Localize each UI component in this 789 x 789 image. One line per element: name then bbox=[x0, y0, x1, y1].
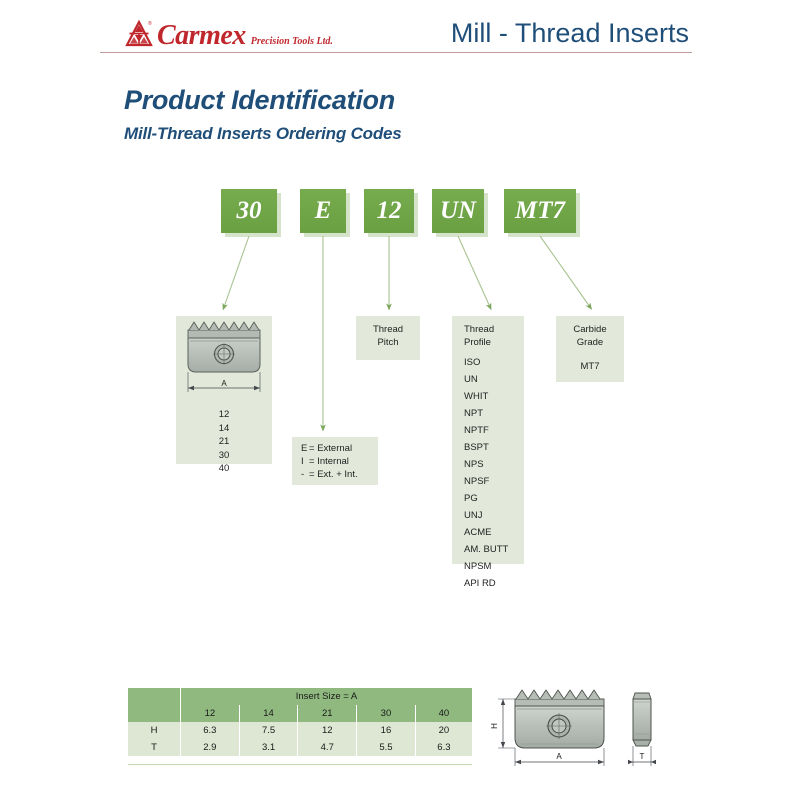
header-title: Mill - Thread Inserts bbox=[451, 18, 689, 49]
code-box-carbide-grade-label: MT7 bbox=[515, 197, 565, 225]
spec-table-header-row: 12 14 21 30 40 bbox=[128, 705, 472, 722]
thread-profile-value: UN bbox=[464, 371, 508, 388]
insert-size-values: 12 14 21 30 40 bbox=[176, 408, 272, 476]
spec-table-cell: 20 bbox=[415, 722, 472, 739]
spec-table-col-header: 12 bbox=[181, 705, 240, 722]
spec-table-title: Insert Size = A bbox=[181, 688, 473, 705]
application-eq: = bbox=[309, 456, 315, 467]
thread-profile-value: ISO bbox=[464, 354, 508, 371]
code-box-thread-pitch-label: 12 bbox=[377, 197, 402, 225]
table-row: H 6.3 7.5 12 16 20 bbox=[128, 722, 472, 739]
thread-profile-value: NPSF bbox=[464, 473, 508, 490]
footer-divider bbox=[128, 764, 472, 765]
spec-table-col-header: 14 bbox=[239, 705, 298, 722]
dimension-label-a-bottom: A bbox=[556, 752, 562, 761]
code-box-application[interactable]: E bbox=[300, 189, 346, 233]
insert-size-value: 12 bbox=[176, 408, 272, 422]
code-box-thread-profile[interactable]: UN bbox=[432, 189, 484, 233]
carmex-triangle-icon: ® bbox=[124, 20, 154, 50]
spec-table-title-row: Insert Size = A bbox=[128, 688, 472, 705]
code-box-carbide-grade[interactable]: MT7 bbox=[504, 189, 576, 233]
panel-carbide-grade: Carbide Grade MT7 bbox=[556, 316, 624, 382]
code-box-thread-profile-label: UN bbox=[440, 197, 476, 225]
carbide-grade-heading-line2: Grade bbox=[556, 337, 624, 350]
thread-profile-value: UNJ bbox=[464, 507, 508, 524]
insert-front-view-drawing: A bbox=[176, 316, 272, 408]
insert-size-value: 21 bbox=[176, 435, 272, 449]
thread-pitch-heading-line1: Thread bbox=[356, 324, 420, 337]
spec-table-col-header: 40 bbox=[415, 705, 472, 722]
application-value: Ext. + Int. bbox=[317, 469, 357, 480]
spec-table-body: H 6.3 7.5 12 16 20 T 2.9 3.1 4.7 5.5 6.3 bbox=[128, 722, 472, 756]
application-key: - bbox=[301, 468, 309, 481]
panel-application: E= External I= Internal -= Ext. + Int. bbox=[292, 437, 378, 485]
application-eq: = bbox=[309, 443, 315, 454]
dimension-label-t: T bbox=[640, 752, 645, 761]
thread-profile-values: ISO UN WHIT NPT NPTF BSPT NPS NPSF PG UN… bbox=[464, 354, 508, 592]
code-box-insert-size[interactable]: 30 bbox=[221, 189, 277, 233]
spec-table-cell: 4.7 bbox=[298, 739, 357, 756]
spec-table-cell: 2.9 bbox=[181, 739, 240, 756]
thread-pitch-heading: Thread Pitch bbox=[356, 324, 420, 349]
thread-profile-value: WHIT bbox=[464, 388, 508, 405]
spec-table-row-label: T bbox=[128, 739, 181, 756]
thread-profile-value: NPSM bbox=[464, 558, 508, 575]
application-value: External bbox=[317, 443, 352, 454]
panel-thread-pitch: Thread Pitch bbox=[356, 316, 420, 360]
spec-table-corner-cell bbox=[128, 688, 181, 705]
application-value: Internal bbox=[317, 456, 349, 467]
spec-table-cell: 6.3 bbox=[181, 722, 240, 739]
insert-size-value: 14 bbox=[176, 422, 272, 436]
spec-table-cell: 7.5 bbox=[239, 722, 298, 739]
page-subtitle: Mill-Thread Inserts Ordering Codes bbox=[124, 124, 402, 144]
insert-size-value: 40 bbox=[176, 462, 272, 476]
panel-insert-size: A 12 14 21 30 40 bbox=[176, 316, 272, 464]
spec-table-row-label: H bbox=[128, 722, 181, 739]
thread-profile-value: NPTF bbox=[464, 422, 508, 439]
insert-dimension-drawing: H A T bbox=[488, 688, 670, 770]
carbide-grade-heading: Carbide Grade bbox=[556, 324, 624, 349]
thread-profile-value: API RD bbox=[464, 575, 508, 592]
header-divider bbox=[100, 52, 692, 53]
thread-profile-value: PG bbox=[464, 490, 508, 507]
thread-profile-heading: Thread Profile bbox=[464, 324, 494, 349]
application-key: I bbox=[301, 455, 309, 468]
company-logo: ® Carmex Precision Tools Ltd. bbox=[124, 18, 333, 50]
code-box-insert-size-label: 30 bbox=[237, 197, 262, 225]
spec-table: Insert Size = A 12 14 21 30 40 H 6.3 7.5… bbox=[128, 688, 472, 756]
spec-table-cell: 5.5 bbox=[357, 739, 416, 756]
thread-profile-value: NPT bbox=[464, 405, 508, 422]
thread-profile-value: AM. BUTT bbox=[464, 541, 508, 558]
carbide-grade-heading-line1: Carbide bbox=[556, 324, 624, 337]
thread-pitch-heading-line2: Pitch bbox=[356, 337, 420, 350]
application-row: I= Internal bbox=[301, 455, 378, 468]
spec-table-cell: 16 bbox=[357, 722, 416, 739]
thread-profile-heading-line1: Thread bbox=[464, 324, 494, 337]
thread-profile-value: NPS bbox=[464, 456, 508, 473]
dimension-label-a: A bbox=[221, 379, 227, 388]
thread-profile-value: BSPT bbox=[464, 439, 508, 456]
table-row: T 2.9 3.1 4.7 5.5 6.3 bbox=[128, 739, 472, 756]
connector-arrows bbox=[0, 0, 789, 789]
code-box-application-label: E bbox=[315, 197, 332, 225]
spec-table-cell: 12 bbox=[298, 722, 357, 739]
spec-table-col-header: 21 bbox=[298, 705, 357, 722]
code-box-thread-pitch[interactable]: 12 bbox=[364, 189, 414, 233]
svg-text:®: ® bbox=[148, 20, 152, 27]
logo-subtitle: Precision Tools Ltd. bbox=[251, 37, 333, 47]
application-row: -= Ext. + Int. bbox=[301, 468, 378, 481]
thread-profile-heading-line2: Profile bbox=[464, 337, 494, 350]
application-row: E= External bbox=[301, 442, 378, 455]
spec-table-corner-cell-2 bbox=[128, 705, 181, 722]
spec-table-head: Insert Size = A 12 14 21 30 40 bbox=[128, 688, 472, 722]
insert-size-value: 30 bbox=[176, 449, 272, 463]
carbide-grade-value: MT7 bbox=[556, 361, 624, 374]
page-header: ® Carmex Precision Tools Ltd. Mill - Thr… bbox=[0, 0, 789, 58]
spec-table-cell: 6.3 bbox=[415, 739, 472, 756]
logo-wordmark: Carmex bbox=[157, 22, 246, 50]
application-eq: = bbox=[309, 469, 315, 480]
spec-table-col-header: 30 bbox=[357, 705, 416, 722]
page-title: Product Identification bbox=[124, 85, 395, 116]
thread-profile-value: ACME bbox=[464, 524, 508, 541]
dimension-label-h: H bbox=[490, 723, 499, 729]
page-root: ® Carmex Precision Tools Ltd. Mill - Thr… bbox=[0, 0, 789, 789]
application-key: E bbox=[301, 442, 309, 455]
spec-table-cell: 3.1 bbox=[239, 739, 298, 756]
panel-thread-profile: Thread Profile ISO UN WHIT NPT NPTF BSPT… bbox=[452, 316, 524, 564]
